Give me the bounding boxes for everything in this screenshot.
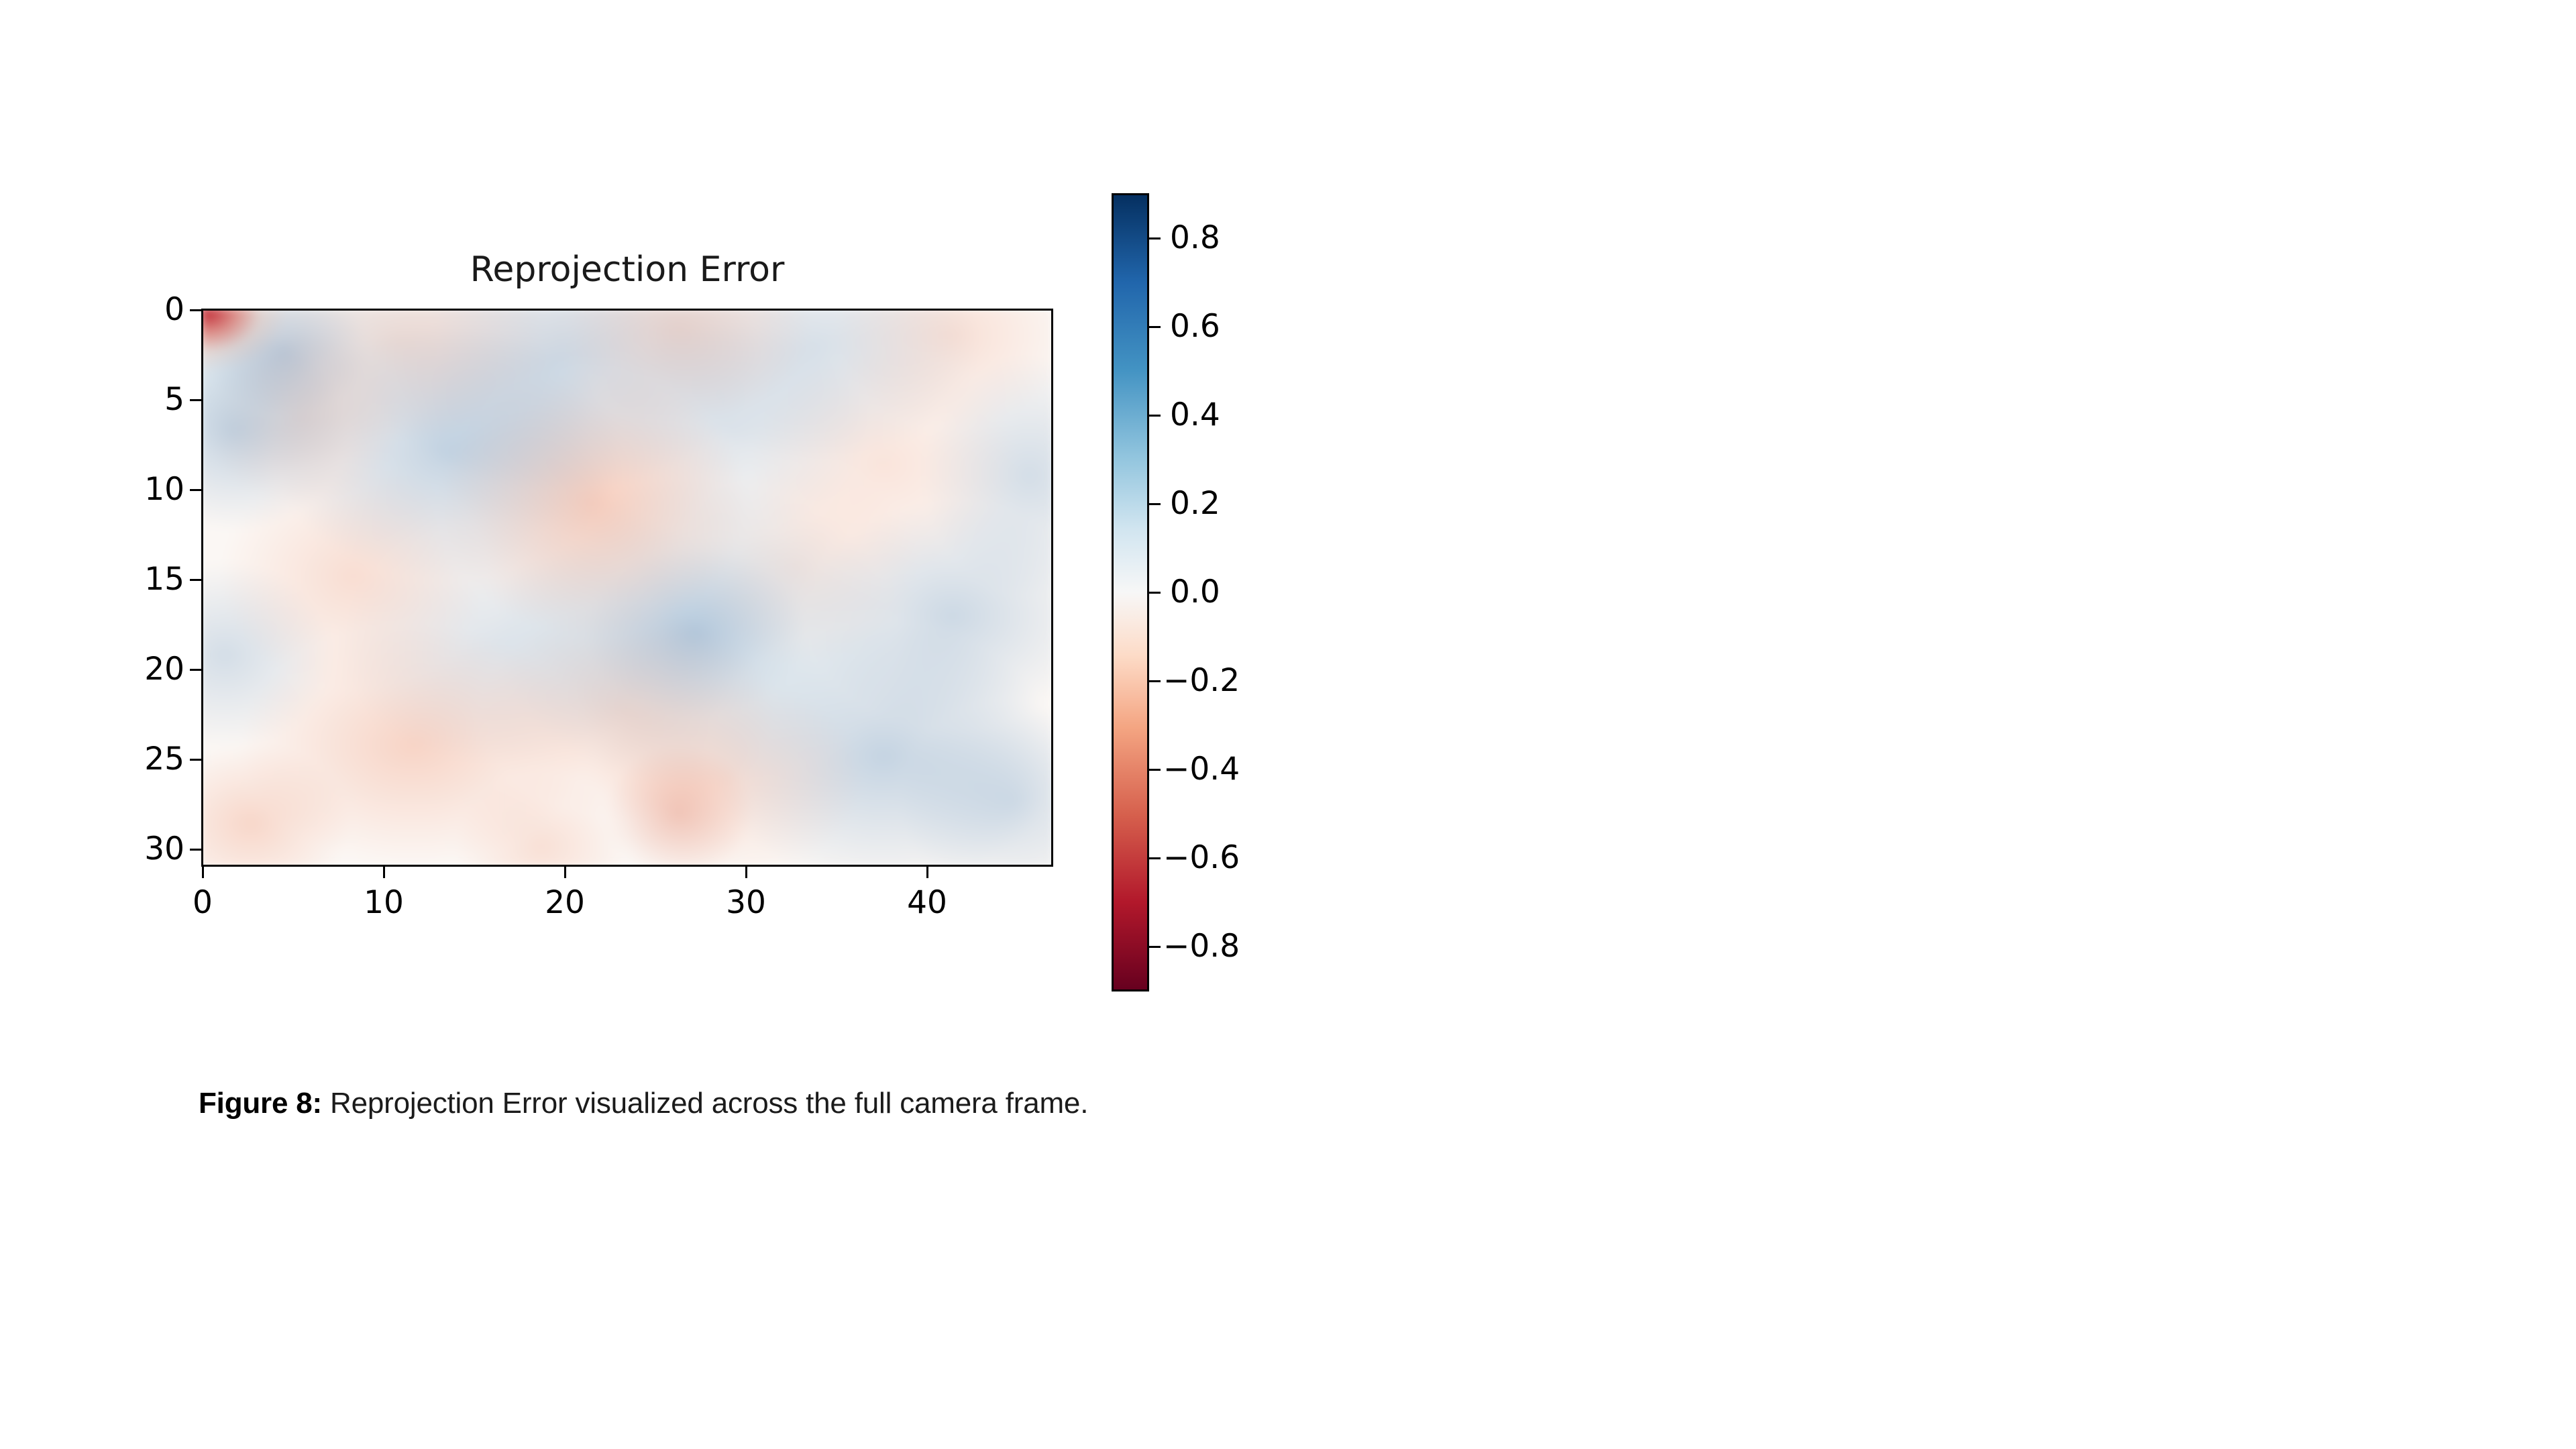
fig8-cbar-tick-label: 0.6: [1170, 308, 1220, 345]
fig8-cbar-tick-label: −0.2: [1163, 662, 1240, 699]
fig8-xtick-mark: [564, 867, 566, 878]
figure-8-panel: Reprojection Error 0 5 10 15 20 25 30 0 …: [0, 0, 1275, 1275]
fig8-title: Reprojection Error: [201, 250, 1053, 290]
fig8-cbar-tick-mark: [1149, 592, 1161, 594]
fig8-ytick-mark: [190, 309, 201, 311]
cov-ytick-label-t2: t2: [2529, 989, 2576, 1026]
fig8-ytick-label: 20: [121, 651, 184, 688]
figure-8-caption-label: Figure 8:: [199, 1087, 322, 1120]
fig8-cbar-tick-label: 0.8: [1170, 219, 1220, 256]
reprojection-error-field: [201, 309, 1053, 867]
fig8-cbar-tick-label: −0.6: [1163, 839, 1240, 876]
fig8-colorbar: [1112, 193, 1149, 991]
fig8-xtick-label: 20: [525, 884, 605, 921]
fig8-ytick-mark: [190, 399, 201, 401]
cov-ytick-label-yo: yo: [2529, 784, 2576, 821]
fig8-xtick-mark: [202, 867, 204, 878]
cov-ytick-label-t1: t1: [2529, 886, 2576, 923]
fig8-ytick-label: 15: [121, 561, 184, 598]
fig8-ytick-mark: [190, 579, 201, 581]
cov-ytick-label-k1: k1: [2529, 375, 2576, 412]
fig8-xtick-mark: [383, 867, 385, 878]
fig8-cbar-tick-mark: [1149, 237, 1161, 239]
fig8-ytick-label: 25: [121, 741, 184, 777]
fig8-cbar-tick-mark: [1149, 415, 1161, 417]
fig8-ytick-mark: [190, 489, 201, 491]
fig8-cbar-tick-mark: [1149, 326, 1161, 328]
fig8-ytick-label: 0: [121, 291, 184, 328]
cov-ytick-label-f: f: [2529, 272, 2576, 309]
fig8-cbar-tick-mark: [1149, 857, 1161, 859]
fig8-xtick-label: 40: [887, 884, 967, 921]
fig8-ytick-label: 5: [121, 381, 184, 418]
figure-8-caption: Figure 8: Reprojection Error visualized …: [199, 1081, 1091, 1126]
fig8-cbar-tick-label: 0.0: [1170, 574, 1220, 610]
fig8-ytick-mark: [190, 669, 201, 671]
fig8-cbar-tick-mark: [1149, 680, 1161, 682]
fig8-cbar-tick-label: −0.8: [1163, 928, 1240, 965]
fig8-cbar-tick-mark: [1149, 769, 1161, 771]
cov-ytick-label-xo: xo: [2529, 682, 2576, 718]
fig8-ytick-label: 10: [121, 471, 184, 508]
fig8-ytick-mark: [190, 849, 201, 851]
reprojection-error-heatmap: [201, 309, 1053, 867]
figure-9-panel: f k1 k2 k3 xo yo t1 t2 f k1 k2 k3 xo yo …: [1275, 0, 2576, 1275]
fig8-xtick-mark: [745, 867, 747, 878]
cov-ytick-label-k3: k3: [2529, 580, 2576, 616]
fig8-cbar-tick-label: −0.4: [1163, 751, 1240, 788]
fig8-cbar-tick-mark: [1149, 503, 1161, 505]
fig8-ytick-mark: [190, 759, 201, 761]
figure-8-caption-text: Reprojection Error visualized across the…: [322, 1087, 1088, 1120]
fig8-xtick-label: 10: [343, 884, 424, 921]
fig8-xtick-mark: [926, 867, 928, 878]
fig8-ytick-label: 30: [121, 830, 184, 867]
cov-ytick-label-k2: k2: [2529, 477, 2576, 514]
fig8-xtick-label: 30: [706, 884, 786, 921]
fig8-xtick-label: 0: [162, 884, 243, 921]
fig8-cbar-tick-mark: [1149, 946, 1161, 948]
fig8-cbar-tick-label: 0.2: [1170, 485, 1220, 522]
fig8-cbar-tick-label: 0.4: [1170, 396, 1220, 433]
